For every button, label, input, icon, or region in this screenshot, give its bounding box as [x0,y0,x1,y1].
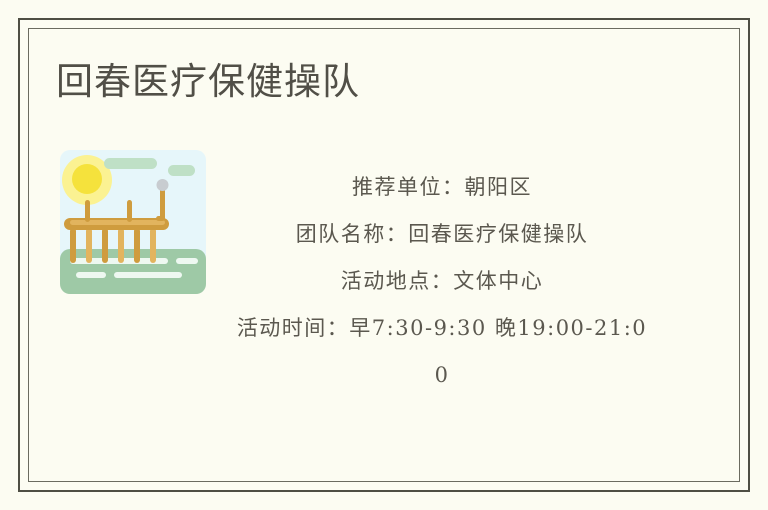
pier-dock-icon [56,146,210,298]
info-text-block: 推荐单位：朝阳区 团队名称：回春医疗保健操队 活动地点：文体中心 活动时间：早7… [234,164,650,399]
info-line-activity-time: 活动时间：早7:30-9:30 晚19:00-21:00 [234,305,650,399]
thumbnail-image [56,146,210,298]
info-line-recommending-unit: 推荐单位：朝阳区 [234,164,650,211]
page-title: 回春医疗保健操队 [56,60,360,104]
card-frame: 回春医疗保健操队 [18,18,750,492]
info-line-activity-place: 活动地点：文体中心 [234,258,650,305]
info-line-team-name: 团队名称：回春医疗保健操队 [234,211,650,258]
content-row: 推荐单位：朝阳区 团队名称：回春医疗保健操队 活动地点：文体中心 活动时间：早7… [56,146,722,470]
